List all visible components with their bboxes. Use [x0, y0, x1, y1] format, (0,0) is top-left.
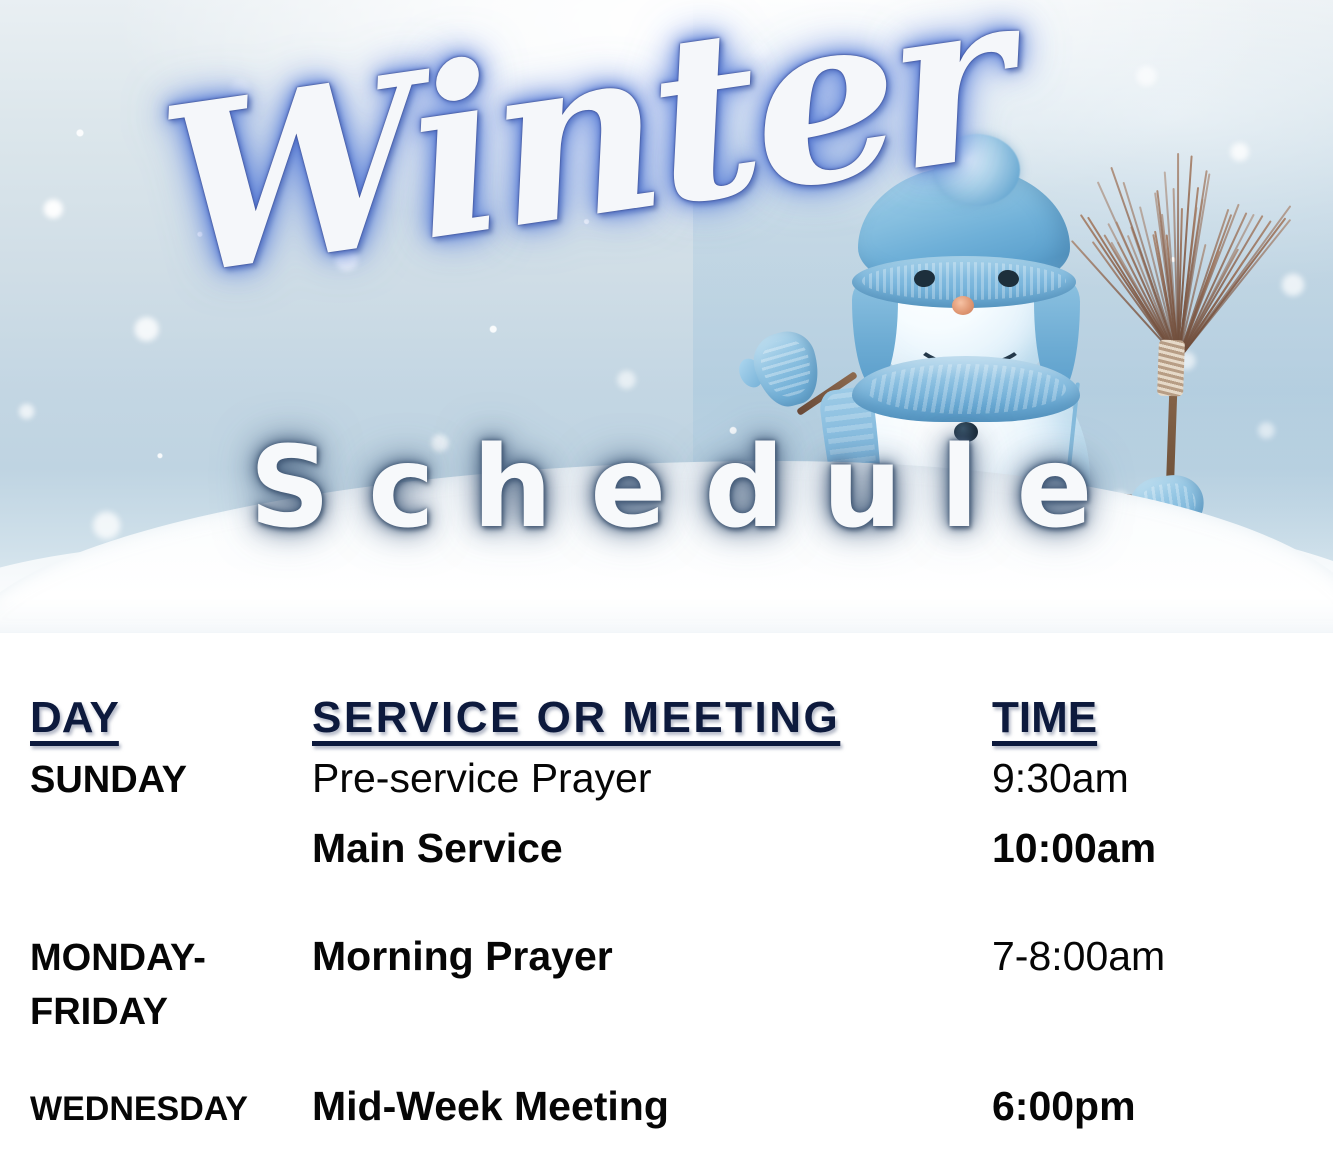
- row-day-wednesday: WEDNESDAY: [30, 1090, 248, 1129]
- table-row: Main Service 10:00am: [0, 825, 1333, 872]
- row-service-morning-prayer: Morning Prayer: [312, 933, 613, 980]
- table-row-continuation: FRIDAY: [0, 991, 1333, 1034]
- column-header-time: TIME: [992, 693, 1097, 743]
- winter-banner: Winter Schedule: [0, 0, 1333, 633]
- row-service-mid-week-meeting: Mid-Week Meeting: [312, 1083, 669, 1130]
- row-time-930am: 9:30am: [992, 755, 1129, 802]
- snowman-hat-pompom: [934, 134, 1020, 206]
- row-day-friday: FRIDAY: [30, 991, 168, 1034]
- row-time-1000am: 10:00am: [992, 825, 1156, 872]
- snowman-button-top: [954, 422, 978, 442]
- row-time-78am: 7-8:00am: [992, 933, 1165, 980]
- table-row: SUNDAY Pre-service Prayer 9:30am: [0, 755, 1333, 802]
- broom-binding: [1157, 340, 1185, 397]
- row-day-monday: MONDAY-: [30, 937, 206, 980]
- column-header-day: DAY: [30, 693, 119, 743]
- schedule-table: DAY SERVICE OR MEETING TIME SUNDAY Pre-s…: [0, 633, 1333, 1161]
- row-time-600pm: 6:00pm: [992, 1083, 1136, 1130]
- column-header-service: SERVICE OR MEETING: [312, 693, 840, 743]
- table-row: WEDNESDAY Mid-Week Meeting 6:00pm: [0, 1083, 1333, 1130]
- row-service-main-service: Main Service: [312, 825, 563, 872]
- row-service-pre-service-prayer: Pre-service Prayer: [312, 755, 651, 802]
- row-day-sunday: SUNDAY: [30, 759, 187, 802]
- table-row: MONDAY- Morning Prayer 7-8:00am: [0, 933, 1333, 980]
- table-header-row: DAY SERVICE OR MEETING TIME: [0, 693, 1333, 743]
- broom-bristles-icon: [1120, 146, 1240, 356]
